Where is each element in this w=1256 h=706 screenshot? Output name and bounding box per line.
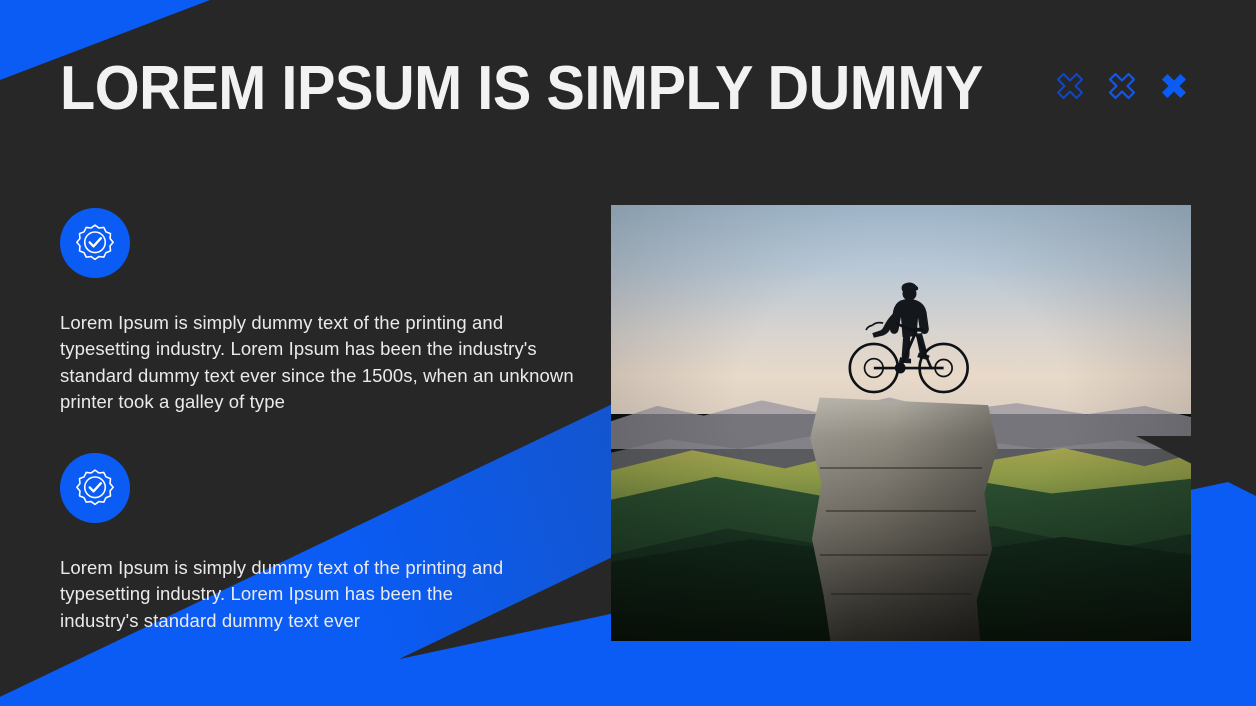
slide: LOREM IPSUM IS SIMPLY DUMMY Lorem Ipsum …: [0, 0, 1256, 706]
photo-scene: [611, 205, 1191, 641]
verified-badge-check-icon-wrapper: [60, 453, 130, 523]
feature-description: Lorem Ipsum is simply dummy text of the …: [60, 555, 510, 634]
feature-description: Lorem Ipsum is simply dummy text of the …: [60, 310, 580, 415]
feature-item: Lorem Ipsum is simply dummy text of the …: [60, 208, 580, 415]
photo-vignette: [611, 205, 1191, 641]
x-mark-outline-2-icon: [1102, 66, 1142, 106]
verified-badge-check-icon: [73, 466, 117, 510]
x-mark-group: [1050, 66, 1194, 106]
verified-badge-check-icon: [73, 221, 117, 265]
feature-item: Lorem Ipsum is simply dummy text of the …: [60, 453, 580, 634]
page-title: LOREM IPSUM IS SIMPLY DUMMY: [60, 58, 983, 120]
feature-list: Lorem Ipsum is simply dummy text of the …: [60, 208, 580, 634]
x-mark-filled-icon: [1154, 66, 1194, 106]
verified-badge-check-icon-wrapper: [60, 208, 130, 278]
cyclist-on-mountain-peak-photo: [611, 205, 1191, 641]
x-mark-outline-1-icon: [1050, 66, 1090, 106]
